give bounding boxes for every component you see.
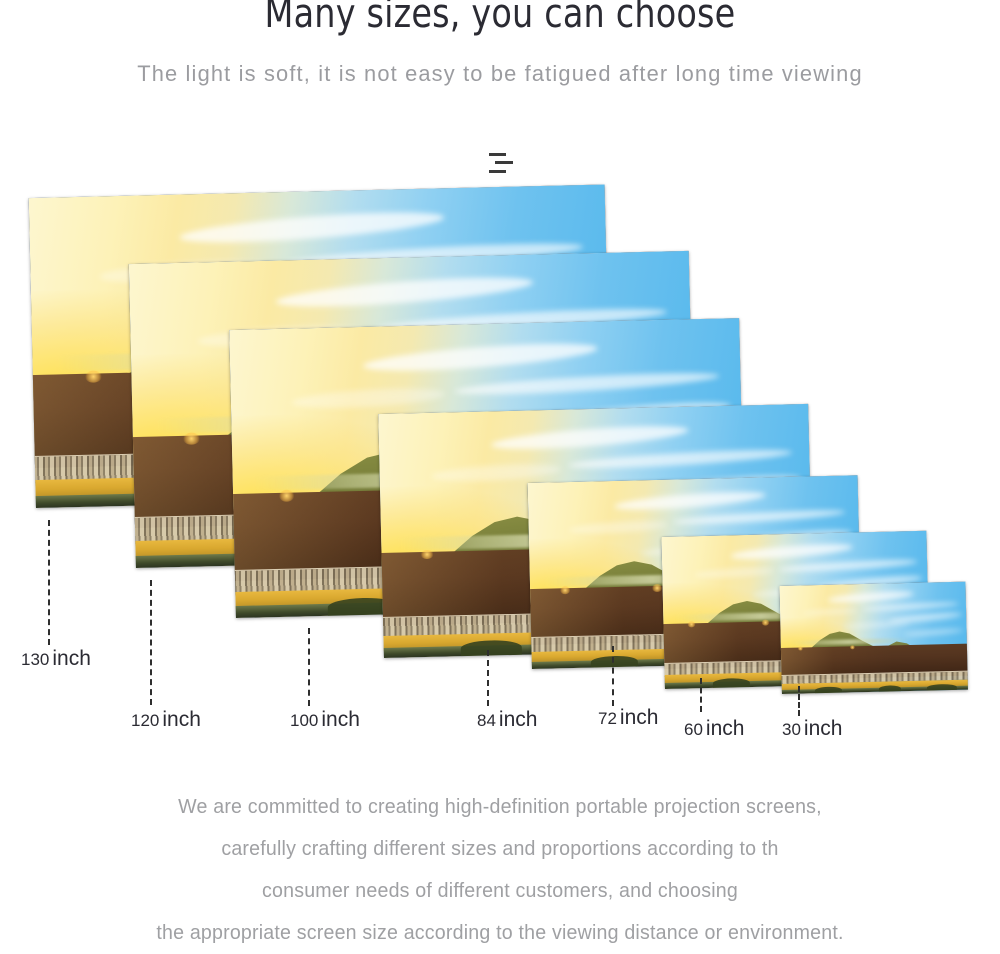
size-label-unit: inch <box>499 708 538 731</box>
footer-description: We are committed to creating high-defini… <box>10 786 990 954</box>
screen-panel <box>779 582 967 694</box>
size-label-unit: inch <box>321 708 360 731</box>
size-label-number: 120 <box>131 711 159 730</box>
size-label-84: 84inch <box>477 709 537 730</box>
footer-line-4: the appropriate screen size according to… <box>10 912 990 954</box>
size-label-100: 100inch <box>290 709 360 730</box>
size-label-unit: inch <box>162 708 201 731</box>
leader-line-100 <box>308 628 310 706</box>
leader-line-130 <box>48 520 50 645</box>
leader-line-72 <box>612 646 614 706</box>
size-label-number: 130 <box>21 650 49 669</box>
size-label-number: 72 <box>598 709 617 728</box>
screen-artwork <box>779 582 967 694</box>
screen-30-inch[interactable] <box>779 582 967 694</box>
size-label-unit: inch <box>706 717 745 740</box>
size-label-unit: inch <box>620 706 659 729</box>
size-label-number: 100 <box>290 711 318 730</box>
leader-line-30 <box>798 686 800 716</box>
leader-line-84 <box>487 650 489 706</box>
footer-line-2: carefully crafting different sizes and p… <box>10 828 990 870</box>
size-label-unit: inch <box>804 717 843 740</box>
leader-line-60 <box>700 678 702 712</box>
footer-line-1: We are committed to creating high-defini… <box>10 786 990 828</box>
size-label-120: 120inch <box>131 709 201 730</box>
size-label-60: 60inch <box>684 718 744 739</box>
leader-line-120 <box>150 580 152 705</box>
size-label-130: 130inch <box>21 648 91 669</box>
size-label-number: 30 <box>782 720 801 739</box>
footer-line-3: consumer needs of different customers, a… <box>10 870 990 912</box>
size-label-number: 84 <box>477 711 496 730</box>
screen-size-comparison: 130inch 120inch 100inch 84inch 72inch 60… <box>0 0 1000 760</box>
size-label-number: 60 <box>684 720 703 739</box>
size-label-30: 30inch <box>782 718 842 739</box>
size-label-unit: inch <box>52 647 91 670</box>
size-label-72: 72inch <box>598 707 658 728</box>
